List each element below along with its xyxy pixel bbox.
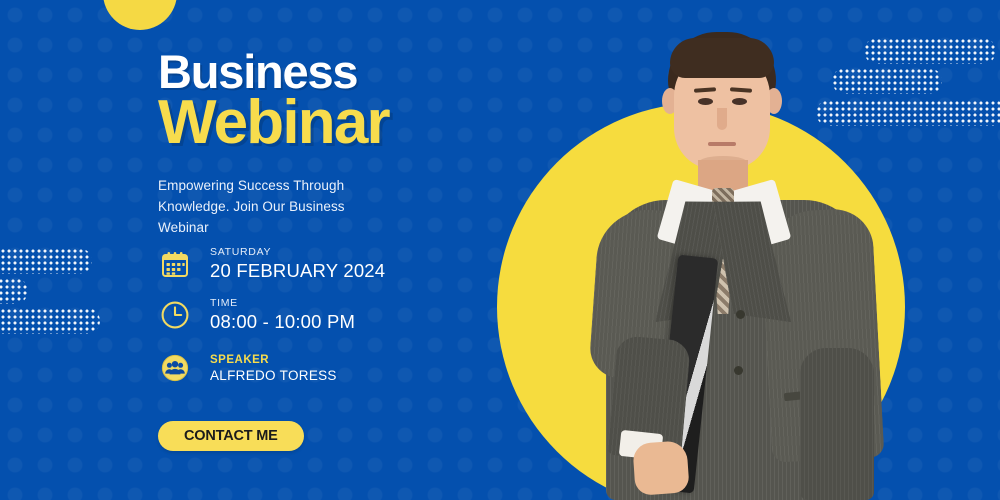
- info-row-speaker: SPEAKER ALFREDO TORESS: [158, 351, 337, 385]
- text-content: Business Webinar Empowering Success Thro…: [158, 0, 538, 500]
- time-value: 08:00 - 10:00 PM: [210, 311, 355, 332]
- title-line-2: Webinar: [158, 92, 389, 154]
- right-eye: [732, 98, 747, 105]
- date-text-group: SATURDAY 20 FEBRUARY 2024: [210, 246, 385, 281]
- left-eye: [698, 98, 713, 105]
- people-icon: [158, 351, 192, 385]
- mouth: [708, 142, 736, 146]
- calendar-icon: [158, 247, 192, 281]
- speaker-label: SPEAKER: [210, 353, 337, 367]
- clock-icon: [158, 298, 192, 332]
- time-text-group: TIME 08:00 - 10:00 PM: [210, 297, 355, 332]
- time-label: TIME: [210, 297, 355, 310]
- hand: [632, 440, 689, 496]
- subtitle: Empowering Success Through Knowledge. Jo…: [158, 176, 376, 239]
- fringe: [670, 38, 774, 78]
- jacket-button-top: [736, 310, 745, 319]
- jacket-button-bottom: [734, 366, 743, 375]
- speaker-text-group: SPEAKER ALFREDO TORESS: [210, 353, 337, 384]
- right-forearm: [800, 348, 874, 500]
- webinar-banner: Business Webinar Empowering Success Thro…: [0, 0, 1000, 500]
- date-value: 20 FEBRUARY 2024: [210, 260, 385, 281]
- businessman-photo: [548, 18, 918, 500]
- speaker-value: ALFREDO TORESS: [210, 368, 337, 384]
- halftone-zigzag-left: [0, 248, 137, 376]
- info-row-time: TIME 08:00 - 10:00 PM: [158, 297, 355, 332]
- info-row-date: SATURDAY 20 FEBRUARY 2024: [158, 246, 385, 281]
- date-label: SATURDAY: [210, 246, 385, 259]
- contact-me-button[interactable]: CONTACT ME: [158, 421, 304, 451]
- nose: [717, 108, 727, 130]
